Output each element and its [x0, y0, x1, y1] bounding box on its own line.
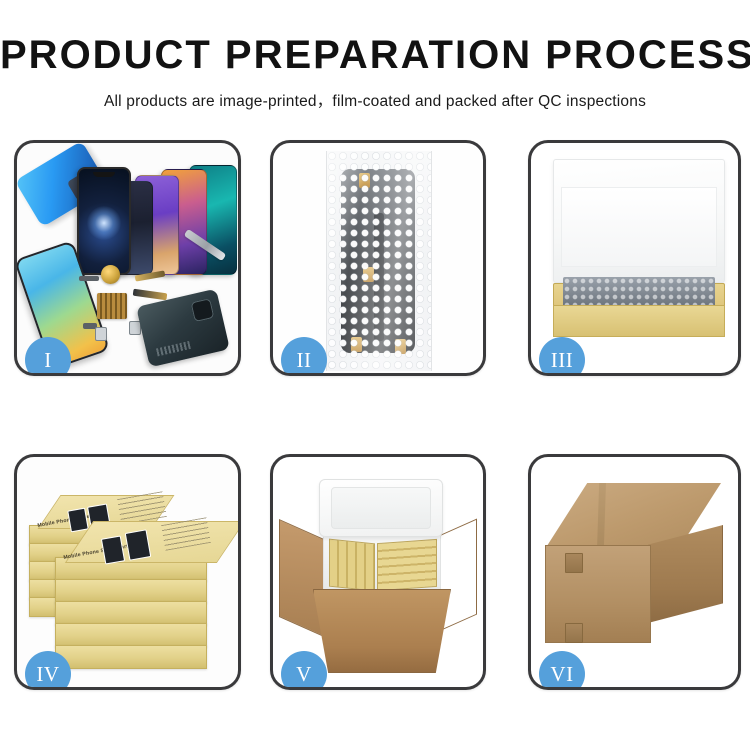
- process-row-bottom: Mobile Phone Spare Parts Mobile Phone Sp…: [14, 454, 742, 690]
- step-panel-2[interactable]: II: [270, 140, 486, 376]
- step-panel-5[interactable]: V: [270, 454, 486, 690]
- step-panel-6[interactable]: VI: [528, 454, 741, 690]
- step-badge-4: IV: [25, 651, 71, 690]
- yellow-boxes-left-group: [329, 539, 375, 592]
- stacked-box-fr-4: [55, 623, 207, 647]
- sim-tray-part: [95, 327, 107, 341]
- yellow-boxes-right-group: [377, 539, 437, 591]
- box-art-screen-f2: [125, 529, 152, 560]
- process-steps-grid: I II: [14, 140, 742, 690]
- page-title: PRODUCT PREPARATION PROCESS: [0, 34, 750, 76]
- sealed-carton-front: [545, 545, 651, 643]
- step-panel-4[interactable]: Mobile Phone Spare Parts Mobile Phone Sp…: [14, 454, 241, 690]
- bubble-wrap-bag: [326, 151, 432, 371]
- step-badge-5: V: [281, 651, 327, 690]
- step-panel-1[interactable]: I: [14, 140, 241, 376]
- tempered-glass-screen: [77, 167, 131, 275]
- step-badge-2: II: [281, 337, 327, 376]
- bag-sheen: [327, 151, 431, 371]
- small-chip-1: [79, 276, 99, 281]
- process-row-top: I II: [14, 140, 742, 376]
- foam-cooler-lid-inner: [331, 487, 431, 529]
- grid-chip-part: [97, 293, 127, 319]
- foam-lid-face: [561, 187, 717, 267]
- carton-body: [313, 589, 451, 673]
- carton-tab-lower: [565, 623, 583, 643]
- page-header: PRODUCT PREPARATION PROCESS All products…: [0, 34, 750, 111]
- phone-notch: [93, 172, 115, 177]
- step-panel-3[interactable]: III: [528, 140, 741, 376]
- step-badge-1: I: [25, 337, 71, 376]
- step-badge-3: III: [539, 337, 585, 376]
- gold-coil-part: [101, 265, 120, 284]
- yellow-box-front: [553, 305, 725, 337]
- phone-back-housing: [136, 289, 230, 368]
- flex-cable-1: [133, 289, 168, 301]
- step-badge-6: VI: [539, 651, 585, 690]
- stacked-box-fr-2: [55, 579, 207, 603]
- stacked-box-fr-top: [65, 521, 238, 563]
- gray-bubble-wrap-layer: [563, 277, 715, 307]
- stacked-box-fr-5: [55, 645, 207, 669]
- box-art-screen-f1: [101, 535, 125, 564]
- page-subtitle: All products are image-printed，film-coat…: [0, 89, 750, 111]
- stacked-boxes: Mobile Phone Spare Parts Mobile Phone Sp…: [25, 471, 238, 679]
- box-art-screen-b1: [67, 508, 89, 533]
- carton-tab-upper: [565, 553, 583, 573]
- phone-screen-fan: [77, 155, 237, 275]
- stacked-box-fr-3: [55, 601, 207, 625]
- product-preparation-page: PRODUCT PREPARATION PROCESS All products…: [0, 0, 750, 750]
